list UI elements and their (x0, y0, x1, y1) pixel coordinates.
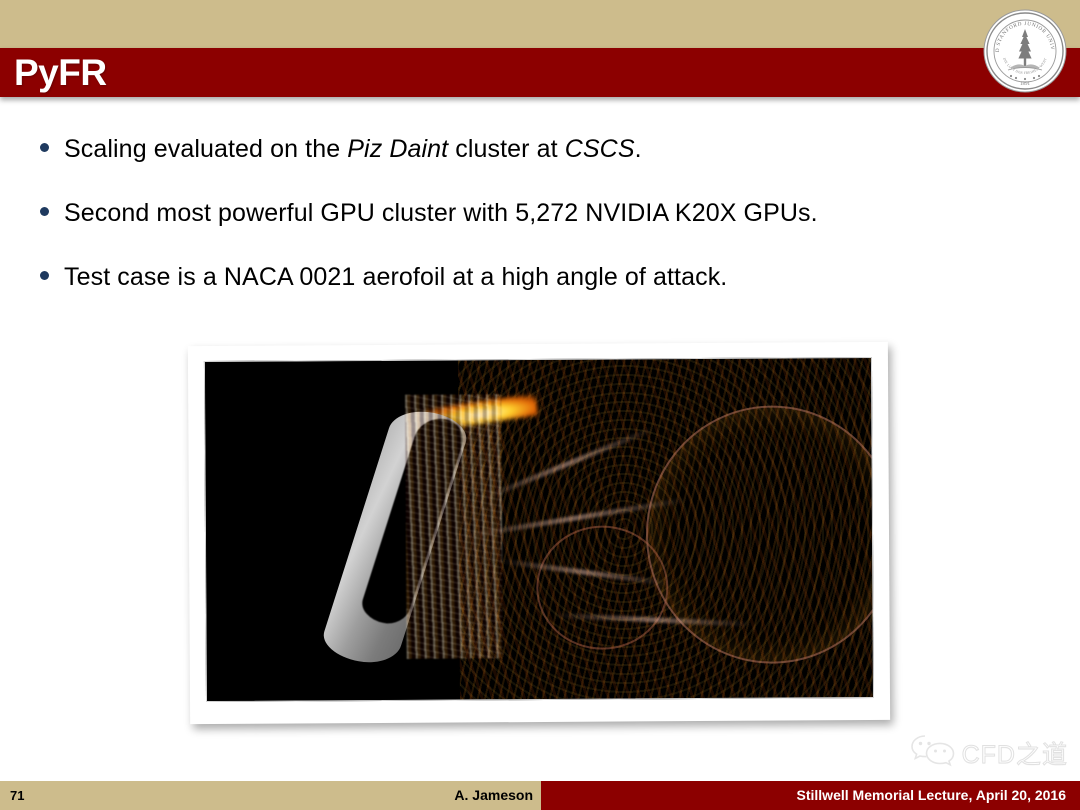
list-item: Scaling evaluated on the Piz Daint clust… (38, 132, 1038, 166)
slide: PyFR LELAND STANFORD JUNIOR UNIVERSITY D… (0, 0, 1080, 810)
watermark-text: CFD之道 (962, 735, 1068, 771)
watermark: CFD之道 (910, 733, 1068, 772)
page-title: PyFR (14, 50, 107, 95)
bullet-text-mid: cluster at (448, 135, 565, 163)
list-item: Test case is a NACA 0021 aerofoil at a h… (38, 260, 1038, 294)
svg-text:1891: 1891 (1020, 82, 1031, 87)
header-tan-band (0, 0, 1080, 48)
figure-frame (188, 342, 890, 724)
list-item: Second most powerful GPU cluster with 5,… (38, 196, 1038, 230)
footer-author: A. Jameson (0, 787, 533, 803)
bullet-text-emphasis-2: CSCS (565, 135, 635, 163)
bullet-text-emphasis-1: Piz Daint (347, 135, 448, 163)
header-red-band (0, 48, 1080, 97)
wechat-icon (910, 733, 956, 772)
bullet-text-pre: Test case is a NACA 0021 aerofoil at a h… (64, 263, 727, 291)
bullet-text-pre: Scaling evaluated on the (64, 135, 347, 163)
bullet-text-post: . (635, 135, 642, 163)
footer-event-title: Stillwell Memorial Lecture, April 20, 20… (797, 787, 1066, 803)
bullet-dot-icon (40, 143, 49, 152)
bullet-dot-icon (40, 207, 49, 216)
bullet-text-pre: Second most powerful GPU cluster with 5,… (64, 199, 818, 227)
stanford-seal-icon: LELAND STANFORD JUNIOR UNIVERSITY DIE LU… (982, 8, 1068, 94)
bullet-dot-icon (40, 271, 49, 280)
bullet-list: Scaling evaluated on the Piz Daint clust… (38, 132, 1038, 324)
cfd-flow-visualisation (204, 357, 874, 702)
vortex-ring-small (536, 525, 669, 650)
turbulent-separation-band (405, 394, 503, 659)
